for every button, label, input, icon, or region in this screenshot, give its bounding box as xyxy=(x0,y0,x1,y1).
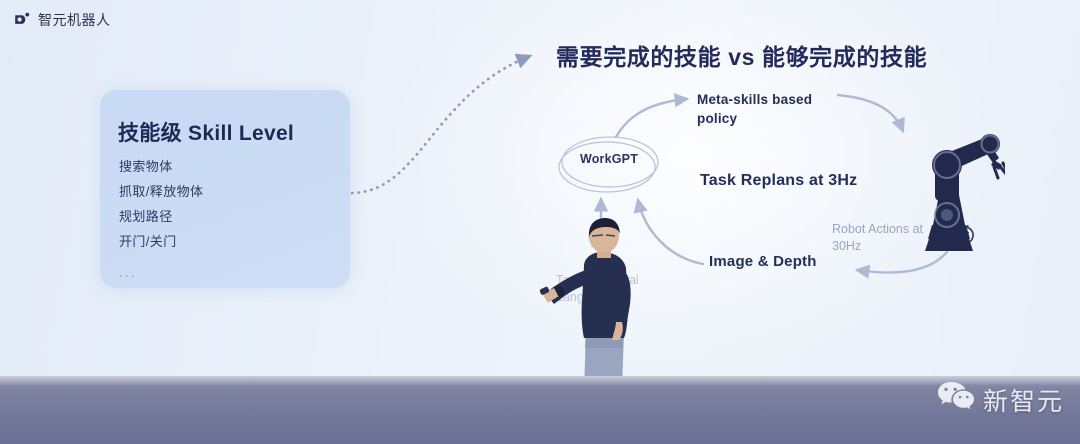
label-task-replans: Task Replans at 3Hz xyxy=(700,172,857,190)
dotted-connector-arrow xyxy=(352,56,530,193)
brand-logo-text: 智元机器人 xyxy=(38,10,111,30)
arrow-workgpt-to-metaskills xyxy=(616,99,687,137)
robot-arm-icon xyxy=(895,103,1005,253)
list-item: 抓取/释放物体 xyxy=(119,179,203,204)
list-item: 规划路径 xyxy=(119,204,203,229)
screenshot-root: 智元机器人 技能级 Skill Level 搜索物体 抓取/释放物体 规划路径 … xyxy=(0,0,1080,444)
watermark: 新智元 xyxy=(937,381,1064,418)
wechat-icon xyxy=(937,381,975,418)
agibot-logo-icon xyxy=(12,11,31,30)
watermark-text: 新智元 xyxy=(983,382,1064,418)
skill-level-card: 技能级 Skill Level 搜索物体 抓取/释放物体 规划路径 开门/关门 … xyxy=(100,90,350,288)
stage-floor-edge xyxy=(0,376,1080,386)
skill-card-title: 技能级 Skill Level xyxy=(118,117,294,147)
list-item: 搜索物体 xyxy=(119,154,203,179)
arrow-metaskills-to-robot xyxy=(838,95,903,131)
page-title: 需要完成的技能 vs 能够完成的技能 xyxy=(556,38,927,72)
list-item-ellipsis: ... xyxy=(119,254,203,285)
label-meta-skills-policy: Meta-skills based policy xyxy=(697,90,822,128)
brand-logo: 智元机器人 xyxy=(12,10,111,30)
label-workgpt-node: WorkGPT xyxy=(570,152,648,166)
list-item: 开门/关门 xyxy=(119,229,203,254)
arrow-robot-to-imagedepth xyxy=(857,252,947,273)
label-image-and-depth: Image & Depth xyxy=(709,251,817,272)
stage-floor xyxy=(0,376,1080,444)
skill-card-list: 搜索物体 抓取/释放物体 规划路径 开门/关门 ... xyxy=(119,154,203,285)
